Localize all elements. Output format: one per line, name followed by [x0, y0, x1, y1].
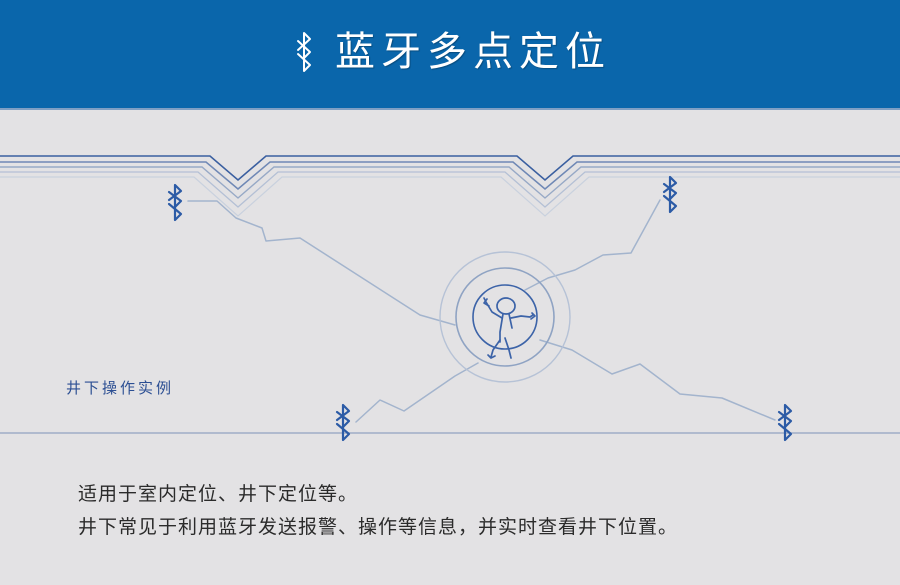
target-ring-outer [440, 252, 570, 382]
illustration-stage [0, 110, 900, 460]
link-upper-left [188, 201, 455, 325]
link-lower-right [540, 340, 775, 420]
bluetooth-node-upper-right[interactable] [664, 177, 676, 212]
illustration-svg [0, 110, 900, 460]
link-upper-right [525, 200, 660, 290]
bluetooth-icon [289, 29, 319, 75]
person-icon [484, 298, 535, 358]
description-line-1: 适用于室内定位、井下定位等。 [78, 478, 868, 511]
link-lower-left [356, 363, 478, 422]
scene-label: 井下操作实例 [66, 377, 174, 398]
page-root: 蓝牙多点定位 [0, 0, 900, 585]
header-inner: 蓝牙多点定位 [289, 29, 611, 75]
person-location-target [440, 252, 570, 382]
page-title: 蓝牙多点定位 [335, 32, 611, 72]
page-header: 蓝牙多点定位 [0, 0, 900, 108]
description-block: 适用于室内定位、井下定位等。 井下常见于利用蓝牙发送报警、操作等信息，并实时查看… [78, 478, 868, 544]
description-line-2: 井下常见于利用蓝牙发送报警、操作等信息，并实时查看井下位置。 [78, 511, 868, 544]
bluetooth-node-lower-right[interactable] [779, 405, 791, 440]
target-ring-middle [456, 268, 554, 366]
tunnel-ceiling-lines [0, 156, 900, 216]
bluetooth-node-upper-left[interactable] [169, 185, 181, 220]
bluetooth-node-lower-left[interactable] [337, 405, 349, 440]
